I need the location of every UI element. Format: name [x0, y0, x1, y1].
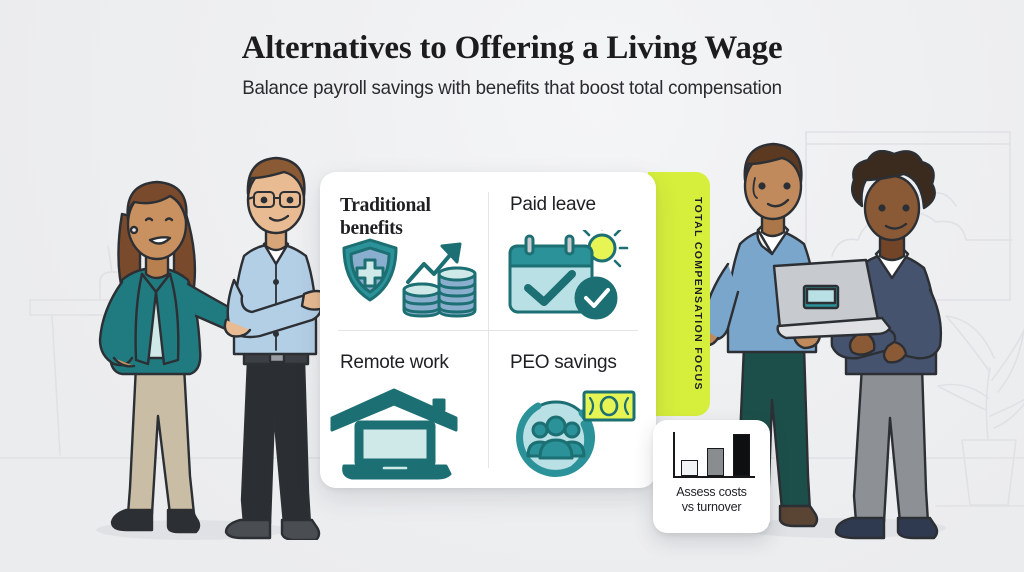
assess-costs-caption: Assess costs vs turnover	[663, 485, 760, 516]
benefit-label: PEO savings	[510, 352, 642, 374]
chart-bar-1	[681, 460, 698, 476]
benefit-label: Paid leave	[510, 194, 642, 216]
shield-cross-growth-coins-icon	[338, 230, 478, 322]
mini-bar-chart	[663, 432, 760, 478]
calendar-check-sun-icon	[498, 230, 638, 322]
caption-line-2: vs turnover	[663, 500, 760, 515]
total-compensation-focus-tab[interactable]: TOTAL COMPENSATION FOCUS	[648, 172, 710, 416]
chart-bar-3	[733, 434, 750, 476]
page-subtitle: Balance payroll savings with benefits th…	[20, 77, 1003, 100]
chart-bar-2	[707, 448, 724, 476]
header: Alternatives to Offering a Living Wage B…	[0, 30, 1024, 100]
laptop-prop	[760, 258, 895, 348]
benefit-cell-remote-work[interactable]: Remote work	[320, 330, 488, 488]
page-title: Alternatives to Offering a Living Wage	[0, 30, 1024, 68]
card-divider-vertical	[488, 192, 489, 468]
focus-tab-label: TOTAL COMPENSATION FOCUS	[692, 197, 704, 391]
benefit-cell-traditional-benefits[interactable]: Traditional benefits	[320, 172, 488, 330]
benefit-cell-paid-leave[interactable]: Paid leave	[488, 172, 656, 330]
house-laptop-icon	[326, 388, 466, 480]
infographic-canvas: Alternatives to Offering a Living Wage B…	[0, 0, 1024, 572]
chart-x-axis	[673, 476, 755, 478]
people-circle-money-icon	[502, 388, 642, 480]
benefit-label: Remote work	[340, 352, 474, 374]
caption-line-1: Assess costs	[663, 485, 760, 500]
benefits-card: Traditional benefits	[320, 172, 656, 488]
assess-costs-card[interactable]: Assess costs vs turnover	[653, 420, 770, 533]
chart-y-axis	[673, 432, 675, 476]
benefit-cell-peo-savings[interactable]: PEO savings	[488, 330, 656, 488]
